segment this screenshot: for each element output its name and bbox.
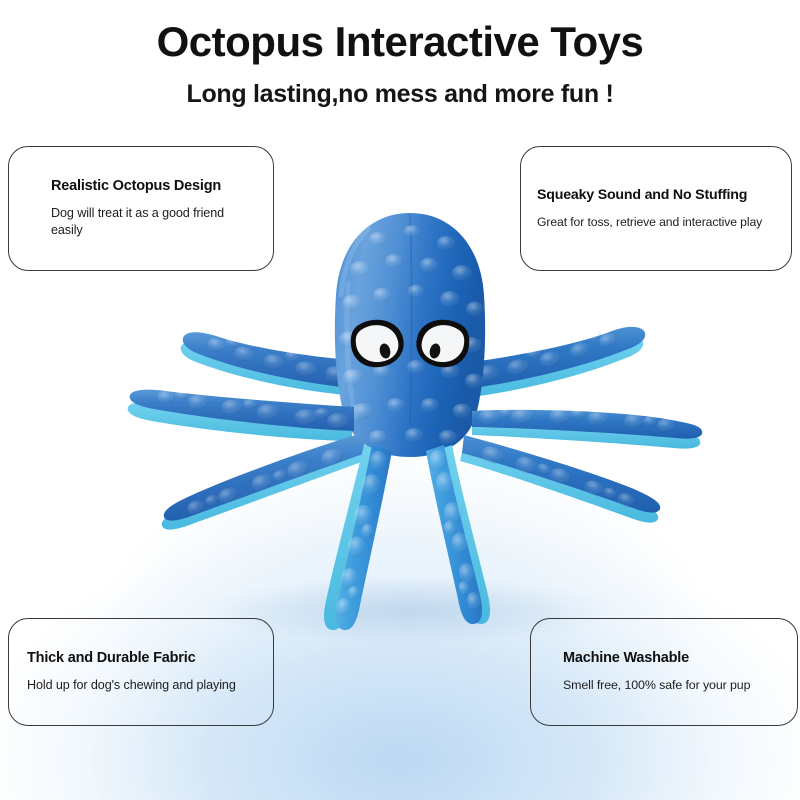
feature-title: Realistic Octopus Design [51, 178, 249, 194]
feature-box-squeaky-sound-and-no-stuffing[interactable]: Squeaky Sound and No Stuffing Great for … [520, 146, 792, 271]
octopus-head [335, 213, 485, 457]
feature-description: Dog will treat it as a good friend easil… [51, 205, 249, 240]
tentacle-right-mid [472, 407, 702, 449]
feature-description: Great for toss, retrieve and interactive… [537, 214, 781, 231]
feature-description: Hold up for dog's chewing and playing [27, 677, 253, 694]
feature-box-machine-washable[interactable]: Machine Washable Smell free, 100% safe f… [530, 618, 798, 726]
feature-box-thick-and-durable-fabric[interactable]: Thick and Durable Fabric Hold up for dog… [8, 618, 274, 726]
feature-title: Machine Washable [563, 650, 783, 666]
page-title: Octopus Interactive Toys [0, 18, 800, 66]
feature-title: Thick and Durable Fabric [27, 650, 253, 666]
eye-right [416, 320, 469, 367]
page-subtitle: Long lasting,no mess and more fun ! [0, 80, 800, 109]
feature-description: Smell free, 100% safe for your pup [563, 677, 783, 694]
tentacle-left-mid [128, 389, 354, 441]
tentacle-lower-right [460, 435, 660, 523]
tentacle-lower-left [162, 433, 366, 530]
tentacle-upper-left [181, 332, 362, 396]
tentacle-upper-right [464, 327, 645, 398]
feature-box-realistic-octopus-design[interactable]: Realistic Octopus Design Dog will treat … [8, 146, 274, 271]
feature-title: Squeaky Sound and No Stuffing [537, 187, 781, 203]
eye-left [351, 320, 404, 367]
